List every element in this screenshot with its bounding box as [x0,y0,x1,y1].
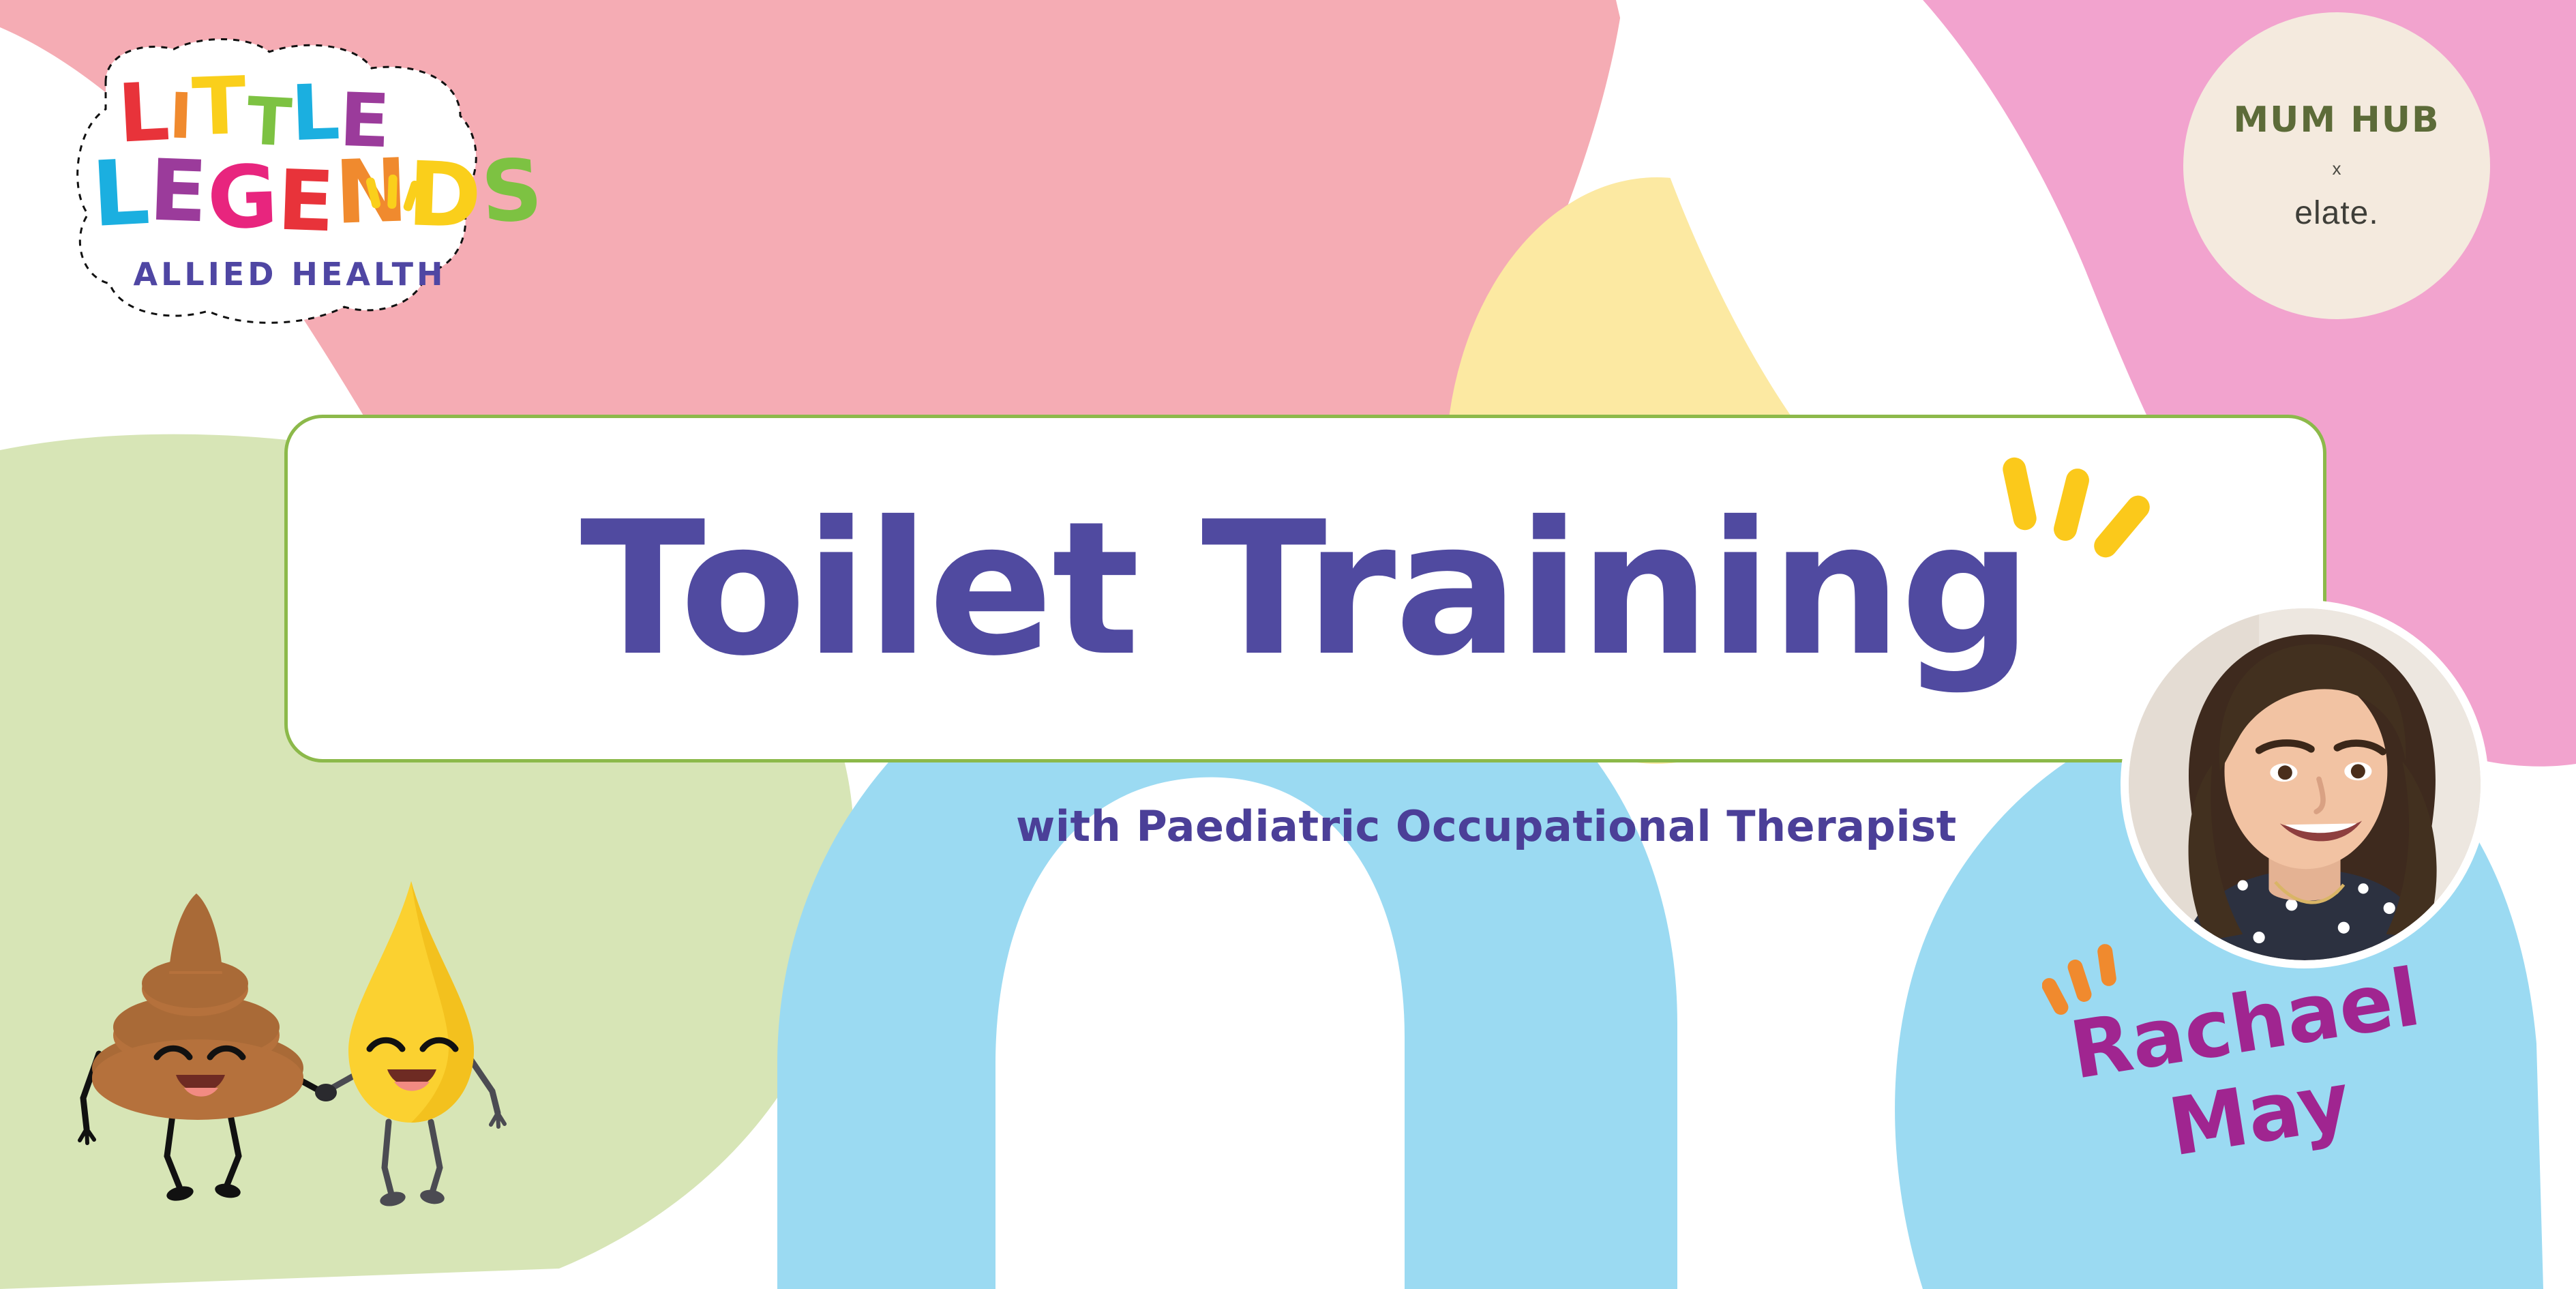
brand-logo[interactable]: LITTLE LEGENDS ALLIED HEALTH [65,34,515,341]
brand-tagline: ALLIED HEALTH [65,256,515,293]
poop-character [92,893,303,1120]
page-subtitle: with Paediatric Occupational Therapist [1016,801,1957,851]
logo-sparkle-icon [365,168,426,222]
poop-foot-left [165,1184,194,1203]
avatar[interactable] [2121,600,2489,968]
poster-canvas: LITTLE LEGENDS ALLIED HEALTH MUM HUB x e… [0,0,2576,1289]
title-sparkle-icon [2001,450,2192,587]
poop-hand-left [80,1129,94,1143]
partner-badge[interactable]: MUM HUB x elate. [2183,12,2490,319]
droplet-character [348,881,474,1123]
partner-subtitle: elate. [2294,194,2378,232]
poop-foot-right [214,1182,242,1200]
brand-logo-wordmark: LITTLE LEGENDS ALLIED HEALTH [65,34,515,341]
partner-title: MUM HUB [2233,100,2440,140]
partner-connector: x [2333,158,2341,179]
presenter-photo [2129,608,2481,960]
droplet-foot-right [419,1188,446,1206]
droplet-hand-right [491,1113,505,1127]
droplet-foot-left [378,1189,406,1208]
joined-hands [315,1084,337,1101]
illustration-characters [48,853,552,1289]
